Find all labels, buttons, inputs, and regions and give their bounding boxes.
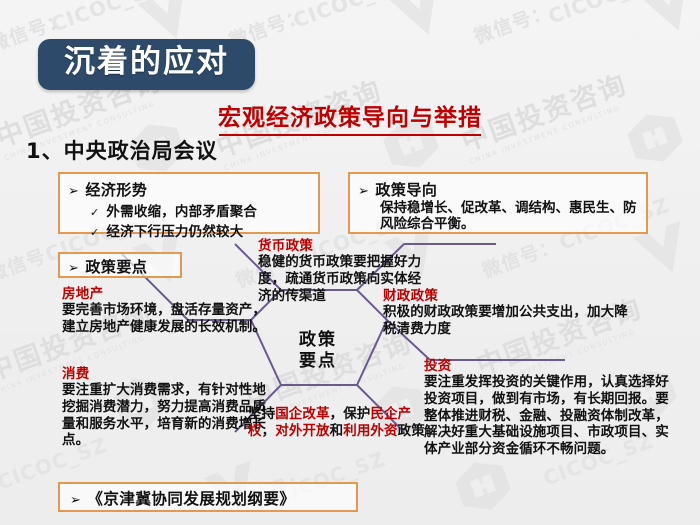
box-policy-direction-title: 政策导向	[375, 179, 437, 200]
list-item: ✓ 外需收缩，内部矛盾聚合	[68, 200, 312, 220]
text-run: 坚持	[248, 406, 275, 422]
page-title-underline	[219, 134, 481, 136]
branch-real-estate: 房地产 要完善市场环境，盘活存量资产，建立房地产健康发展的长效机制。	[62, 286, 270, 336]
box-jingjinji-plan-title: 《京津冀协同发展规划纲要》	[87, 487, 295, 509]
branch-soe-reform: 坚持国企改革，保护民企产权，对外开放和利用外资政策	[248, 406, 430, 440]
branch-consumption-title: 消费	[62, 366, 274, 382]
text-run: 对外开放	[275, 423, 329, 439]
text-run: 利用外资	[343, 423, 397, 439]
text-run: ，	[262, 423, 276, 439]
slide-title-badge: 沉着的应对	[38, 39, 255, 90]
page-title-text: 宏观经济政策导向与举措	[218, 98, 482, 132]
arrow-bullet-icon: ➢	[68, 262, 79, 275]
branch-fiscal-policy: 财政政策 积极的财政政策要增加公共支出，加大降税清费力度	[383, 288, 633, 338]
box-economic-situation-heading: ➢ 经济形势	[68, 179, 312, 200]
fishbone-core-line2: 要点	[276, 351, 360, 372]
box-economic-situation-title: 经济形势	[85, 179, 147, 200]
branch-consumption-body: 要注重扩大消费需求，有针对性地挖掘消费潜力，努力提高消费品质量和服务水平，培育新…	[62, 382, 274, 449]
fishbone-core-node: 政策 要点	[276, 330, 360, 371]
arrow-bullet-icon: ➢	[68, 185, 79, 198]
text-run: ，保护	[330, 406, 371, 422]
arrow-bullet-icon: ➢	[358, 185, 369, 198]
presentation-slide: 中国投资咨询CHINA INVESTMENT CONSULTING 中国投资咨询…	[0, 0, 700, 525]
list-item: ✓ 经济下行压力仍然较大	[68, 220, 312, 240]
box-policy-key-points-title: 政策要点	[85, 256, 147, 277]
slide-title-text: 沉着的应对	[64, 45, 229, 81]
text-run: 和	[330, 423, 344, 439]
fishbone-core-line1: 政策	[276, 330, 360, 351]
branch-fiscal-policy-title: 财政政策	[383, 288, 633, 304]
branch-investment-title: 投资	[424, 358, 682, 374]
branch-monetary-policy-title: 货币政策	[258, 238, 428, 254]
text-run: 政策	[398, 423, 425, 439]
branch-investment-body: 要注重发挥投资的关键作用，认真选择好投资项目，做到有市场，有长期回报。要整体推进…	[424, 374, 682, 458]
box-policy-direction: ➢ 政策导向 保持稳增长、促改革、调结构、惠民生、防风险综合平衡。	[348, 172, 648, 234]
box-policy-key-points-heading: ➢ 政策要点	[68, 256, 174, 277]
list-item-label: 经济下行压力仍然较大	[106, 220, 243, 240]
arrow-bullet-icon: ➢	[70, 494, 81, 507]
branch-soe-reform-body: 坚持国企改革，保护民企产权，对外开放和利用外资政策	[248, 406, 430, 440]
list-item-label: 外需收缩，内部矛盾聚合	[106, 200, 257, 220]
branch-real-estate-body: 要完善市场环境，盘活存量资产，建立房地产健康发展的长效机制。	[62, 302, 270, 335]
box-jingjinji-plan: ➢ 《京津冀协同发展规划纲要》	[58, 482, 358, 512]
box-policy-direction-body: 保持稳增长、促改革、调结构、惠民生、防风险综合平衡。	[380, 200, 638, 233]
page-title: 宏观经济政策导向与举措	[0, 98, 700, 136]
branch-real-estate-title: 房地产	[62, 286, 270, 302]
box-jingjinji-plan-heading: ➢ 《京津冀协同发展规划纲要》	[70, 487, 350, 509]
box-economic-situation: ➢ 经济形势 ✓ 外需收缩，内部矛盾聚合 ✓ 经济下行压力仍然较大	[58, 172, 320, 234]
branch-investment: 投资 要注重发挥投资的关键作用，认真选择好投资项目，做到有市场，有长期回报。要整…	[424, 358, 682, 458]
branch-fiscal-policy-body: 积极的财政政策要增加公共支出，加大降税清费力度	[383, 304, 633, 337]
box-policy-key-points: ➢ 政策要点	[58, 252, 182, 278]
box-policy-direction-heading: ➢ 政策导向	[358, 179, 638, 200]
check-icon: ✓	[90, 226, 99, 239]
check-icon: ✓	[90, 206, 99, 219]
section-heading: 1、中央政治局会议	[26, 135, 218, 165]
branch-consumption: 消费 要注重扩大消费需求，有针对性地挖掘消费潜力，努力提高消费品质量和服务水平，…	[62, 366, 274, 449]
text-run: 国企改革	[275, 406, 329, 422]
